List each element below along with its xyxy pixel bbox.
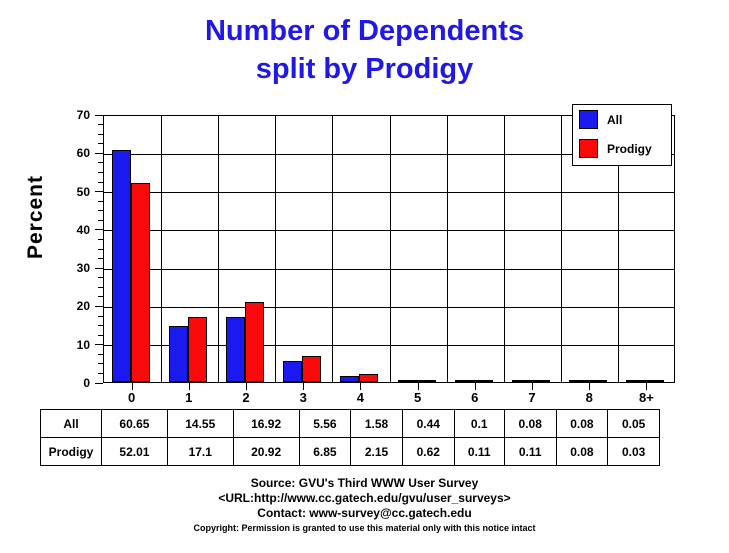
data-table-body: All60.6514.5516.925.561.580.440.10.080.0… bbox=[41, 410, 660, 466]
y-axis-tick-label: 60 bbox=[50, 148, 90, 158]
bar-all-0 bbox=[112, 150, 131, 382]
bar-all-3 bbox=[283, 361, 302, 382]
bar-all-4 bbox=[340, 376, 359, 382]
y-axis-tick bbox=[95, 383, 103, 384]
bar-prodigy-0 bbox=[131, 183, 150, 382]
legend-swatch-prodigy-icon bbox=[579, 139, 598, 158]
x-axis-tick-label: 3 bbox=[274, 390, 332, 405]
x-axis-tick bbox=[418, 383, 419, 390]
table-cell: 2.15 bbox=[351, 438, 403, 466]
bar-prodigy-2 bbox=[245, 302, 264, 382]
legend-swatch-all-icon bbox=[579, 110, 598, 129]
bar-all-8 bbox=[569, 380, 588, 382]
bar-prodigy-3 bbox=[302, 356, 321, 382]
table-cell: 0.08 bbox=[556, 438, 608, 466]
gridline-vertical bbox=[275, 116, 276, 382]
x-axis-tick-label: 1 bbox=[160, 390, 218, 405]
y-axis-tick-label: 0 bbox=[50, 378, 90, 388]
x-axis-tick-label: 4 bbox=[331, 390, 389, 405]
gridline-vertical bbox=[447, 116, 448, 382]
table-cell: 0.11 bbox=[504, 438, 556, 466]
x-axis-tick-label: 6 bbox=[446, 390, 504, 405]
table-cell: 6.85 bbox=[299, 438, 351, 466]
table-cell: 0.08 bbox=[556, 410, 608, 438]
table-cell: 60.65 bbox=[102, 410, 168, 438]
y-axis-tick bbox=[95, 344, 103, 345]
bar-all-1 bbox=[169, 326, 188, 382]
table-cell: 16.92 bbox=[233, 410, 299, 438]
y-axis-tick bbox=[95, 191, 103, 192]
y-axis-tick-label: 50 bbox=[50, 187, 90, 197]
x-axis-tick bbox=[246, 383, 247, 390]
chart-legend: All Prodigy bbox=[572, 104, 672, 166]
x-axis-tick-label: 2 bbox=[217, 390, 275, 405]
bar-all-6 bbox=[455, 380, 474, 382]
gridline-vertical bbox=[504, 116, 505, 382]
y-axis-title: Percent bbox=[24, 137, 48, 297]
table-cell: 20.92 bbox=[233, 438, 299, 466]
bar-prodigy-8+ bbox=[645, 380, 664, 382]
x-axis-tick bbox=[303, 383, 304, 390]
bar-all-7 bbox=[512, 380, 531, 382]
table-cell: 1.58 bbox=[351, 410, 403, 438]
y-axis-tick bbox=[95, 306, 103, 307]
gridline-vertical bbox=[218, 116, 219, 382]
gridline-vertical bbox=[390, 116, 391, 382]
footer-copyright: Copyright: Permission is granted to use … bbox=[0, 521, 729, 535]
chart-footer: Source: GVU's Third WWW User Survey <URL… bbox=[0, 476, 729, 535]
x-axis-tick-label: 0 bbox=[103, 390, 161, 405]
table-cell: 0.08 bbox=[504, 410, 556, 438]
y-axis-tick-label: 30 bbox=[50, 263, 90, 273]
footer-url: <URL:http://www.cc.gatech.edu/gvu/user_s… bbox=[0, 491, 729, 506]
gridline-vertical bbox=[332, 116, 333, 382]
table-row: All60.6514.5516.925.561.580.440.10.080.0… bbox=[41, 410, 660, 438]
x-axis-tick bbox=[532, 383, 533, 390]
table-cell: 17.1 bbox=[167, 438, 233, 466]
x-axis-tick bbox=[646, 383, 647, 390]
table-row-header: Prodigy bbox=[41, 438, 102, 466]
x-axis-tick bbox=[189, 383, 190, 390]
bar-prodigy-7 bbox=[531, 380, 550, 382]
y-axis-tick bbox=[95, 115, 103, 116]
x-axis-tick-label: 5 bbox=[389, 390, 447, 405]
y-axis-tick-label: 10 bbox=[50, 340, 90, 350]
bar-prodigy-8 bbox=[588, 380, 607, 382]
y-axis-tick bbox=[95, 229, 103, 230]
table-row: Prodigy52.0117.120.926.852.150.620.110.1… bbox=[41, 438, 660, 466]
table-row-header: All bbox=[41, 410, 102, 438]
table-cell: 14.55 bbox=[167, 410, 233, 438]
footer-contact: Contact: www-survey@cc.gatech.edu bbox=[0, 506, 729, 521]
x-axis-tick bbox=[360, 383, 361, 390]
gridline-vertical bbox=[161, 116, 162, 382]
bar-all-8+ bbox=[626, 380, 645, 382]
bar-prodigy-6 bbox=[474, 380, 493, 382]
data-table: All60.6514.5516.925.561.580.440.10.080.0… bbox=[40, 409, 660, 466]
legend-label-prodigy: Prodigy bbox=[607, 142, 652, 156]
x-axis-tick bbox=[475, 383, 476, 390]
y-axis-tick-label: 70 bbox=[50, 110, 90, 120]
chart-plot-region: Percent 010203040506070 All Prodigy 0123… bbox=[0, 0, 729, 400]
y-axis: Percent 010203040506070 bbox=[0, 0, 103, 400]
gridline-vertical bbox=[561, 116, 562, 382]
footer-source: Source: GVU's Third WWW User Survey bbox=[0, 476, 729, 491]
x-axis-tick-label: 7 bbox=[503, 390, 561, 405]
y-axis-tick bbox=[95, 268, 103, 269]
x-axis-tick-label: 8 bbox=[560, 390, 618, 405]
table-cell: 0.62 bbox=[402, 438, 454, 466]
x-axis-tick bbox=[589, 383, 590, 390]
table-cell: 0.03 bbox=[608, 438, 660, 466]
bar-all-5 bbox=[398, 380, 417, 382]
table-cell: 5.56 bbox=[299, 410, 351, 438]
x-axis-tick bbox=[132, 383, 133, 390]
y-axis-tick-label: 40 bbox=[50, 225, 90, 235]
bar-prodigy-4 bbox=[359, 374, 378, 382]
bar-prodigy-5 bbox=[417, 380, 436, 382]
legend-label-all: All bbox=[607, 113, 622, 127]
y-axis-tick-label: 20 bbox=[50, 301, 90, 311]
table-cell: 0.05 bbox=[608, 410, 660, 438]
table-cell: 52.01 bbox=[102, 438, 168, 466]
bar-prodigy-1 bbox=[188, 317, 207, 382]
y-axis-tick bbox=[95, 153, 103, 154]
bar-all-2 bbox=[226, 317, 245, 382]
table-cell: 0.11 bbox=[454, 438, 504, 466]
table-cell: 0.1 bbox=[454, 410, 504, 438]
table-cell: 0.44 bbox=[402, 410, 454, 438]
x-axis-tick-label: 8+ bbox=[617, 390, 675, 405]
